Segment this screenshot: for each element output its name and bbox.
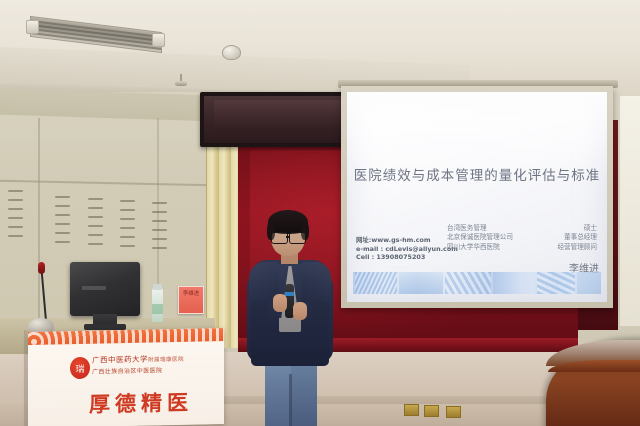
banner-institution-line-2: 广西壮族自治区中医医院 (92, 365, 162, 375)
floor-outlet-1 (404, 404, 419, 416)
speaker-leg-left (265, 362, 291, 426)
glasses-lens-right (289, 232, 306, 244)
speaker-hand-right (293, 302, 307, 320)
speaker-shoulder-right (301, 262, 331, 302)
banner-university-name: 广西中医药大学 (92, 355, 148, 365)
wall-seam-vertical-1 (38, 118, 40, 318)
banner-institution-line-1: 广西中医药大学附属瑞康医院 (92, 353, 184, 366)
vent-cap-left (26, 20, 39, 34)
organization-item: 四川大学华西医院 (447, 243, 537, 252)
wall-slot-column-1 (8, 190, 23, 244)
conference-hall-photo: 医院绩效与成本管理的量化评估与标准 网址:www.gs-hm.com e-mai… (0, 0, 640, 426)
gooseneck-mic-head-icon (38, 262, 45, 274)
footer-tile-blur (493, 272, 535, 294)
vent-cap-right (152, 33, 165, 47)
footer-tile-sky (399, 272, 443, 294)
footer-tile-keyboard (537, 272, 575, 294)
presentation-slide: 医院绩效与成本管理的量化评估与标准 网址:www.gs-hm.com e-mai… (347, 92, 607, 302)
microphone-band (285, 292, 294, 296)
logo-glyph: 瑞 (70, 362, 90, 375)
speaker-title-item: 董事总经理 (535, 233, 597, 242)
sprinkler-head-icon (175, 81, 187, 86)
water-bottle-cap (153, 284, 162, 290)
organization-item: 台湾医务管理 (447, 224, 537, 233)
speaker-leg-gap (289, 374, 292, 426)
wall-slot-column-4 (120, 200, 135, 254)
speaker-person (243, 208, 339, 426)
water-bottle-label (152, 304, 163, 314)
hospital-logo-icon: 瑞 (70, 357, 90, 379)
banner-affiliated-hospital: 附属瑞康医院 (148, 357, 184, 364)
slide-footer-graphic-strip (353, 272, 601, 294)
monitor-vent (82, 286, 106, 290)
speaker-hand-left (273, 294, 287, 312)
organization-list: 台湾医务管理 北京保诚医院管理公司 四川大学华西医院 (447, 224, 537, 252)
glasses-lens-left (271, 232, 288, 244)
speaker-title-item: 硕士 (535, 224, 597, 233)
slide-title: 医院绩效与成本管理的量化评估与标准 (347, 164, 607, 184)
speaker-title-list: 硕士 董事总经理 经营管理顾问 (535, 224, 597, 252)
footer-tile-building (445, 272, 491, 294)
footer-tile-globe (355, 272, 397, 294)
window-light-strip (620, 96, 640, 326)
monitor-base (84, 324, 126, 330)
banner-slogan: 厚德精医 (56, 386, 224, 420)
event-banner: 瑞 广西中医药大学附属瑞康医院 广西壮族自治区中医医院 厚德精医 (28, 328, 224, 426)
floor-outlet-2 (424, 405, 439, 417)
floor-outlet-3 (446, 406, 461, 418)
desk-name-card: 李维进 (178, 286, 204, 314)
organization-item: 北京保诚医院管理公司 (447, 233, 537, 242)
speaker-title-item: 经营管理顾问 (535, 243, 597, 252)
wall-slot-column-5 (152, 202, 167, 256)
footer-tile-bird (577, 272, 601, 294)
name-card-text: 李维进 (179, 291, 203, 297)
wall-slot-column-3 (88, 198, 103, 252)
contact-cell: Cell : 13908075203 (356, 253, 468, 262)
banner-top-border-pattern (28, 328, 224, 345)
wall-slot-column-2 (55, 196, 70, 250)
speaker-leg-right (291, 362, 317, 426)
slide-body: 网址:www.gs-hm.com e-mail : cdLevis@aliyun… (347, 220, 607, 280)
glasses-bridge (286, 236, 289, 238)
smoke-detector-icon (222, 45, 241, 60)
